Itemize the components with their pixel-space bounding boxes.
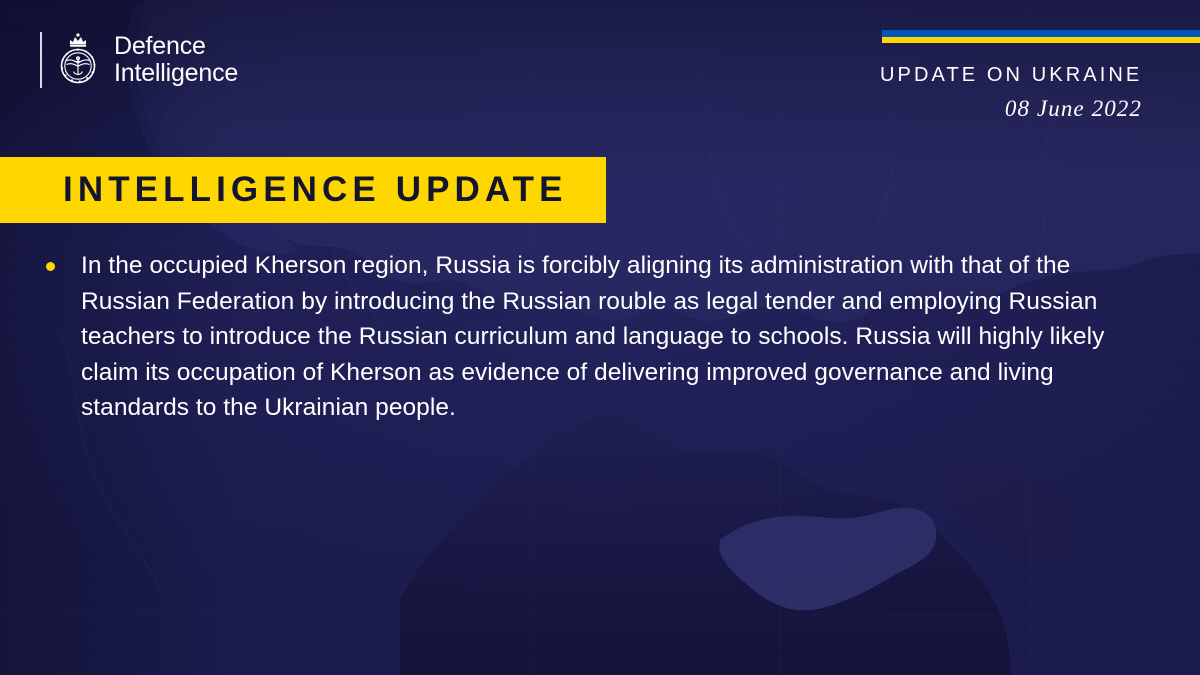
- sea-of-azov: [936, 464, 1077, 563]
- logo-wordmark: Defence Intelligence: [114, 33, 238, 87]
- black-sea: [400, 416, 1011, 675]
- flag-stripe-blue: [882, 30, 1200, 37]
- logo-line-2: Intelligence: [114, 60, 238, 87]
- intelligence-update-banner: INTELLIGENCE UPDATE: [0, 157, 606, 223]
- bullet-dot-icon: [46, 262, 55, 271]
- logo-divider-rule: [40, 32, 42, 88]
- intelligence-update-poster: Defence Intelligence UPDATE ON UKRAINE 0…: [0, 0, 1200, 675]
- logo-line-1: Defence: [114, 33, 238, 60]
- defence-intelligence-logo: Defence Intelligence: [40, 30, 238, 90]
- banner-label: INTELLIGENCE UPDATE: [63, 170, 568, 210]
- bullet-text: In the occupied Kherson region, Russia i…: [81, 248, 1160, 426]
- ukraine-flag-bar: [882, 30, 1200, 43]
- list-item: In the occupied Kherson region, Russia i…: [40, 248, 1160, 426]
- crimea-peninsula: [719, 508, 936, 611]
- bullet-list: In the occupied Kherson region, Russia i…: [40, 248, 1160, 426]
- header-title: UPDATE ON UKRAINE: [880, 64, 1142, 87]
- flag-stripe-yellow: [882, 37, 1200, 43]
- header-right-block: UPDATE ON UKRAINE 08 June 2022: [880, 30, 1200, 122]
- header-date: 08 June 2022: [880, 96, 1142, 122]
- defence-intelligence-crest-icon: [55, 30, 101, 90]
